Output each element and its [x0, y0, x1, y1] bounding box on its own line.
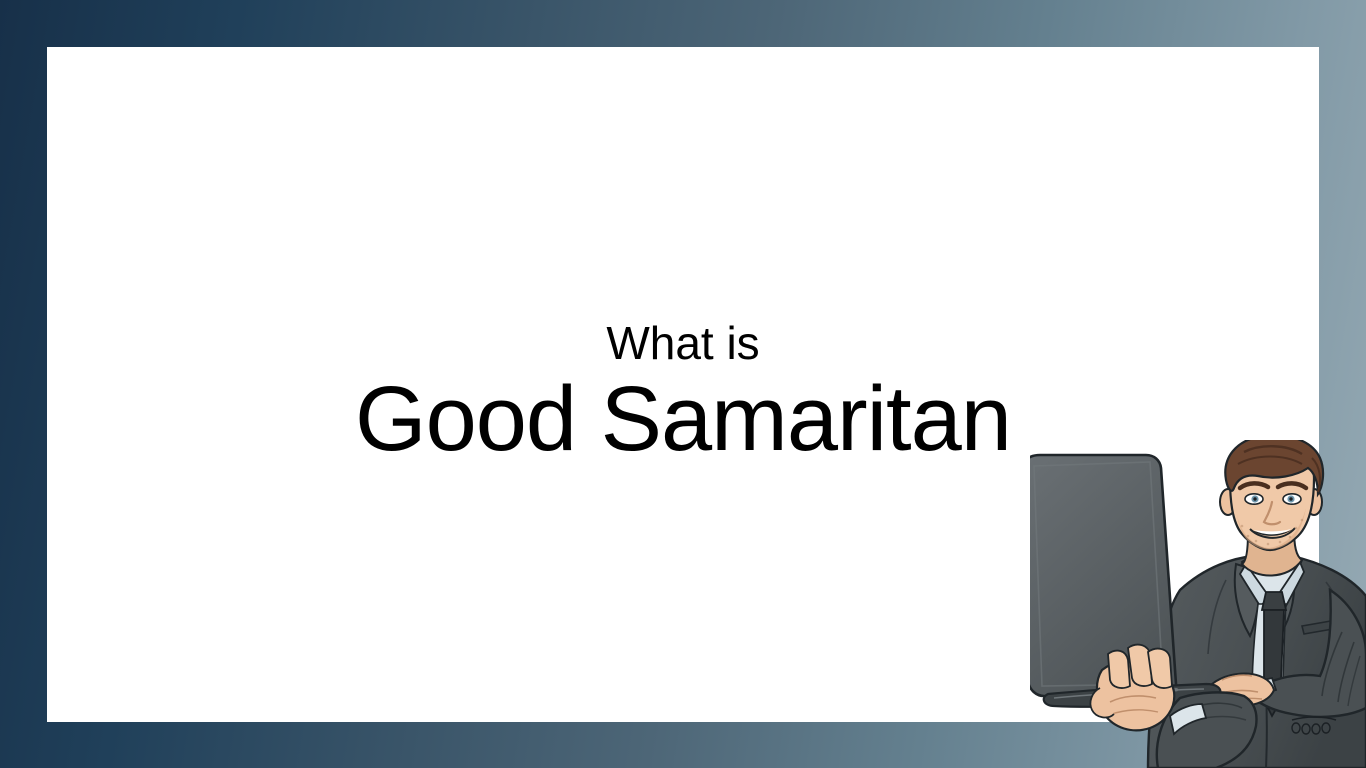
slide-content-panel: What is Good Samaritan [47, 47, 1319, 722]
title-line-secondary: Good Samaritan [47, 367, 1319, 471]
slide-canvas: What is Good Samaritan [0, 0, 1366, 768]
title-line-primary: What is [47, 317, 1319, 369]
